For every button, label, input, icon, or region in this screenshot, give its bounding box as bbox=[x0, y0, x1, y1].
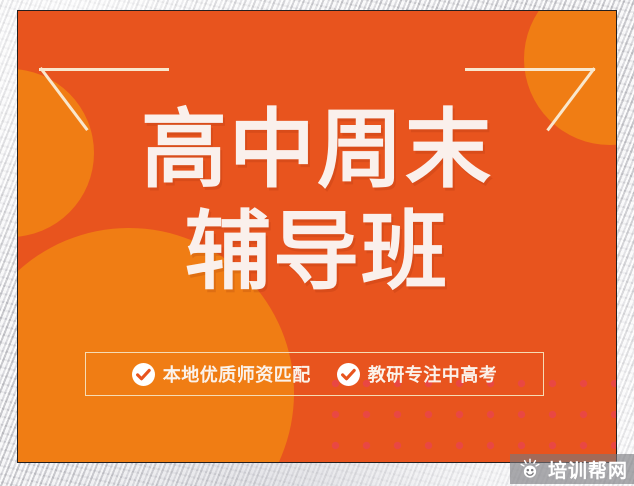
poster-content: 高中周末 辅导班 本地优质师资匹配 bbox=[18, 11, 616, 462]
headline-line-1: 高中周末 bbox=[18, 107, 616, 193]
feature-item-1: 本地优质师资匹配 bbox=[132, 361, 311, 387]
feature-item-2: 教研专注中高考 bbox=[337, 361, 498, 387]
chevron-horizontal-line bbox=[465, 68, 595, 71]
chevron-horizontal-line bbox=[39, 68, 169, 71]
feature-badge-strip: 本地优质师资匹配 教研专注中高考 bbox=[85, 352, 544, 396]
watermark-text: 培训帮网 bbox=[548, 456, 628, 483]
headline-line-2: 辅导班 bbox=[18, 209, 616, 295]
site-watermark: 培训帮网 bbox=[510, 454, 634, 484]
feature-label: 教研专注中高考 bbox=[368, 361, 498, 387]
sun-face-logo-icon bbox=[519, 458, 541, 480]
promo-poster: 高中周末 辅导班 本地优质师资匹配 bbox=[17, 10, 617, 463]
check-circle-icon bbox=[337, 363, 360, 386]
poster-headline: 高中周末 辅导班 bbox=[18, 107, 616, 295]
poster-canvas: 高中周末 辅导班 本地优质师资匹配 bbox=[0, 0, 634, 486]
check-circle-icon bbox=[132, 363, 155, 386]
feature-label: 本地优质师资匹配 bbox=[163, 361, 311, 387]
